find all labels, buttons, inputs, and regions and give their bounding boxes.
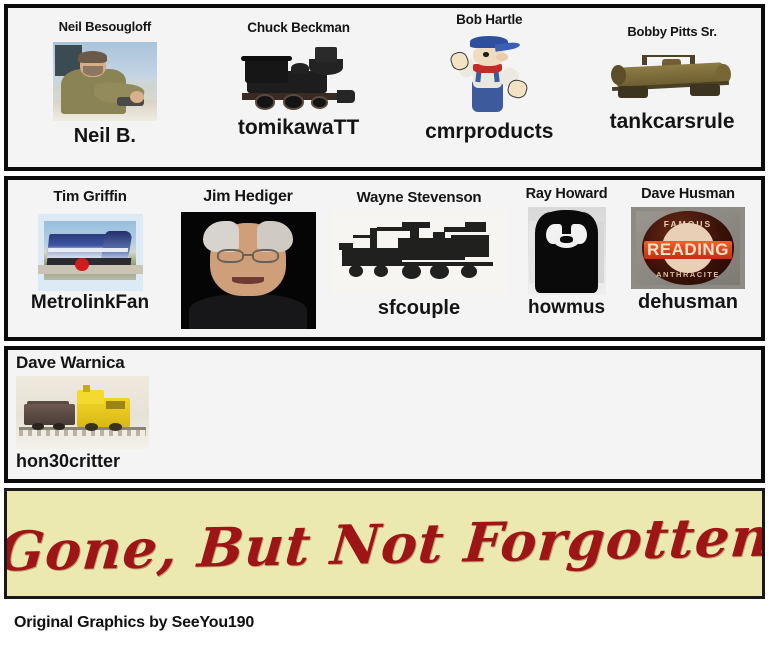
member-username: MetrolinkFan — [31, 293, 149, 313]
member-real-name: Tim Griffin — [53, 189, 126, 205]
herald-top-text: FAMOUS — [642, 219, 733, 229]
member-username: dehusman — [638, 292, 738, 313]
member-cell-neil-b[interactable]: Neil Besougloff Neil B. — [8, 8, 202, 147]
member-avatar-metrolink-diesel-locomotive — [38, 214, 143, 291]
member-row-3-cells: Dave Warnica hon30critter — [8, 350, 761, 479]
member-row-1: Neil Besougloff Neil B. Chuck Beckman — [4, 4, 765, 171]
herald-bottom-text: ANTHRACITE — [642, 270, 733, 279]
memorial-graphic: Neil Besougloff Neil B. Chuck Beckman — [0, 0, 769, 646]
member-real-name: Neil Besougloff — [59, 20, 151, 34]
member-username: tomikawaTT — [238, 117, 359, 139]
memorial-banner: Gone, But Not Forgotten — [4, 488, 765, 599]
herald-center-text: READING — [642, 241, 733, 259]
member-real-name: Dave Husman — [641, 187, 735, 202]
credit-line: Original Graphics by SeeYou190 — [14, 614, 254, 632]
member-real-name: Bobby Pitts Sr. — [627, 25, 716, 39]
member-real-name: Bob Hartle — [456, 13, 522, 27]
member-username: hon30critter — [16, 452, 120, 471]
member-avatar-tank-car-model — [597, 45, 747, 108]
member-cell-tankcarsrule[interactable]: Bobby Pitts Sr. tankcarsrule — [583, 8, 761, 133]
member-real-name: Chuck Beckman — [247, 21, 349, 35]
member-avatar-line-drawing-steam-locomotive — [332, 210, 507, 294]
member-avatar-steam-locomotive-model — [235, 41, 363, 115]
member-cell-hon30critter[interactable]: Dave Warnica hon30critter — [8, 350, 168, 471]
member-row-2: Tim Griffin MetrolinkFan Jim Hediger — [4, 176, 765, 341]
member-avatar-portrait-high-contrast — [528, 207, 606, 295]
member-username: cmrproducts — [425, 121, 553, 143]
member-cell-jim-hediger[interactable]: Jim Hediger — [172, 180, 324, 329]
member-row-1-cells: Neil Besougloff Neil B. Chuck Beckman — [8, 8, 761, 167]
member-avatar-cartoon-engineer-thumbs-up — [441, 31, 537, 119]
member-username: Neil B. — [74, 126, 136, 147]
member-cell-dehusman[interactable]: Dave Husman FAMOUS READING ANTHRACITE de… — [619, 180, 757, 313]
member-avatar-photo-man-at-workbench — [53, 42, 157, 121]
member-username: howmus — [528, 298, 605, 318]
banner-title: Gone, But Not Forgotten — [4, 504, 765, 583]
member-cell-metrolinkfan[interactable]: Tim Griffin MetrolinkFan — [8, 180, 172, 313]
member-avatar-reading-railroad-herald: FAMOUS READING ANTHRACITE — [631, 207, 745, 289]
member-username: sfcouple — [378, 298, 460, 319]
member-real-name: Dave Warnica — [16, 354, 124, 372]
member-username: tankcarsrule — [610, 111, 735, 133]
member-cell-howmus[interactable]: Ray Howard howmus — [514, 180, 619, 318]
member-cell-cmrproducts[interactable]: Bob Hartle cmrproducts — [395, 8, 583, 143]
member-row-2-cells: Tim Griffin MetrolinkFan Jim Hediger — [8, 180, 761, 337]
member-avatar-portrait-man-glasses — [181, 212, 316, 329]
member-row-3: Dave Warnica hon30critter — [4, 346, 765, 483]
member-cell-tomikawatt[interactable]: Chuck Beckman tomikawaTT — [202, 8, 396, 139]
member-real-name: Ray Howard — [526, 187, 608, 202]
member-real-name: Wayne Stevenson — [357, 190, 482, 206]
member-avatar-yellow-critter-locomotive — [16, 376, 149, 449]
member-cell-sfcouple[interactable]: Wayne Stevenson — [324, 180, 514, 319]
member-real-name: Jim Hediger — [203, 189, 292, 206]
